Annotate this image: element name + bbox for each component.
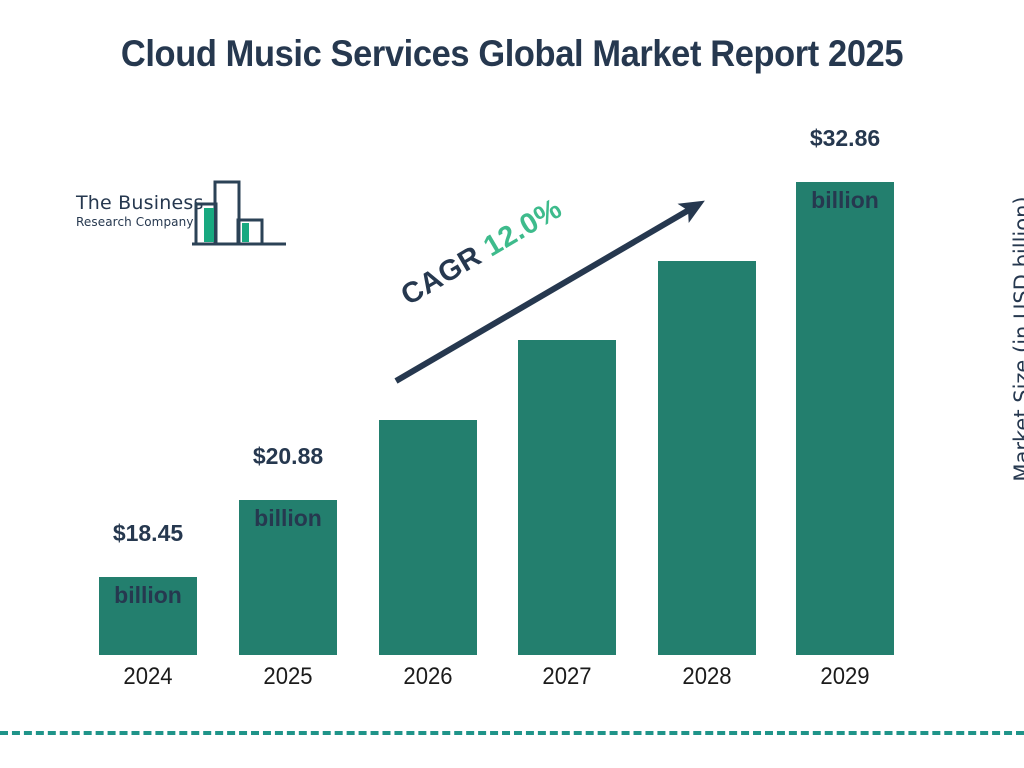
bar-value-2024-amount: $18.45 <box>83 518 213 549</box>
x-tick-2024: 2024 <box>102 663 194 691</box>
bar-2027[interactable] <box>518 340 616 655</box>
plot-area: $18.45 billion $20.88 billion $32.86 bil… <box>0 0 1024 768</box>
bar-2029[interactable] <box>796 182 894 655</box>
bar-value-2025-amount: $20.88 <box>223 441 353 472</box>
bar-value-2025: $20.88 billion <box>223 410 353 565</box>
x-tick-2029: 2029 <box>799 663 891 691</box>
y-axis-title: Market Size (in USD billion) <box>1010 169 1024 509</box>
bar-value-2029: $32.86 billion <box>780 92 910 247</box>
bar-value-2024-unit: billion <box>83 580 213 611</box>
bar-value-2029-amount: $32.86 <box>780 123 910 154</box>
cagr-annotation: CAGR 12.0% <box>396 193 568 313</box>
bar-value-2025-unit: billion <box>223 503 353 534</box>
footer-divider <box>0 731 1024 735</box>
x-tick-2028: 2028 <box>661 663 753 691</box>
bar-2028[interactable] <box>658 261 756 655</box>
bar-2026[interactable] <box>379 420 477 655</box>
cagr-value: 12.0% <box>478 193 567 264</box>
x-tick-2025: 2025 <box>242 663 334 691</box>
bar-value-2024: $18.45 billion <box>83 487 213 642</box>
chart-canvas: Cloud Music Services Global Market Repor… <box>0 0 1024 768</box>
x-tick-2027: 2027 <box>521 663 613 691</box>
bar-value-2029-unit: billion <box>780 185 910 216</box>
cagr-label: CAGR <box>396 240 488 312</box>
x-tick-2026: 2026 <box>382 663 474 691</box>
